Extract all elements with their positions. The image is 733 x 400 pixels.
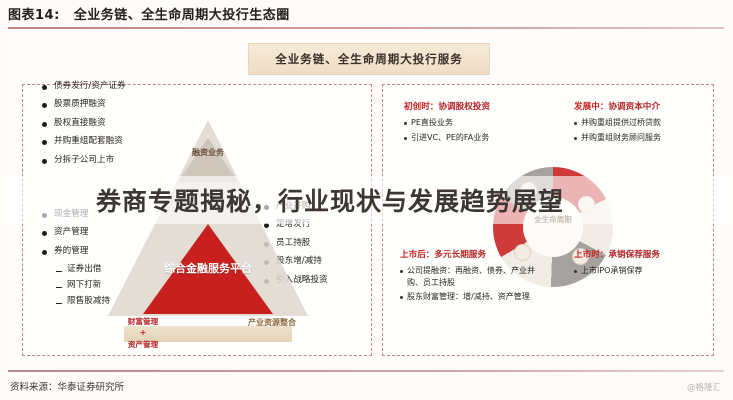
stage-name: 初创时 <box>404 102 430 112</box>
list-item: 现金管理 <box>42 210 110 220</box>
bullet-dot-icon <box>400 296 403 299</box>
stage-item-label: 上市IPO承销保荐 <box>581 265 642 277</box>
stage-theme: 多元长期服务 <box>434 250 486 260</box>
bullet-dot-icon <box>404 122 407 125</box>
cycle-node-icon <box>578 196 595 213</box>
stage-item-label: 并购重组财务顾问服务 <box>581 132 661 144</box>
stage-item: 并购重组财务顾问服务 <box>574 132 712 144</box>
sub-list-item-label: 网下打新 <box>67 281 101 291</box>
asset-management-label: 资产管理 <box>128 340 158 349</box>
stage-item: 引进VC、PE的FA业务 <box>404 132 542 144</box>
diagram-banner: 全业务链、全生命周期大投行服务 <box>248 43 490 75</box>
bottom-divider <box>8 370 724 372</box>
bullet-dot-icon <box>42 103 47 108</box>
list-item: 券的管理 <box>42 247 110 257</box>
figure-header: 图表14:全业务链、全生命周期大投行生态圈 <box>8 4 725 28</box>
stage-item-label: PE直投业务 <box>411 117 453 129</box>
stage-heading: 初创时：协调股权投资 <box>404 100 542 112</box>
pyramid-core-label: 综合金融服务平台 <box>153 262 263 277</box>
stage-theme: 协调资本中介 <box>608 102 660 112</box>
dash-icon <box>56 303 62 304</box>
list-item-label: 现金管理 <box>54 210 88 220</box>
sub-list-item-label: 证券出借 <box>67 265 101 275</box>
stage-heading: 发展中：协调资本中介 <box>574 100 712 112</box>
stage-item-label: 公司提融资：再融资、债券、产业并购、员工持股 <box>407 265 538 288</box>
pyramid-apex-shape <box>178 138 238 182</box>
sub-list-item: 证券出借 <box>56 265 110 275</box>
bullet-dot-icon <box>574 137 577 140</box>
banner-label: 全业务链、全生命周期大投行服务 <box>275 51 463 67</box>
cycle-center-label: 全生命周期 <box>523 214 583 225</box>
list-item-label: 债券发行/资产证券 <box>54 82 126 92</box>
bullet-dot-icon <box>42 122 47 127</box>
sub-list-item-label: 限售股减持 <box>67 297 110 307</box>
list-item-label: 资产管理 <box>54 228 88 238</box>
bullet-dot-icon <box>42 231 47 236</box>
stage-block-growth: 发展中：协调资本中介 并购重组提供过桥贷款 并购重组财务顾问服务 <box>574 100 712 146</box>
source-note: 资料来源：华泰证券研究所 <box>10 379 124 393</box>
figure-page: 图表14:全业务链、全生命周期大投行生态圈 全业务链、全生命周期大投行服务 债券… <box>0 0 733 400</box>
bullet-dot-icon <box>42 159 47 164</box>
list-item-label: 股票质押融资 <box>54 100 106 110</box>
stage-theme: 协调股权投资 <box>438 102 490 112</box>
stage-block-startup: 初创时：协调股权投资 PE直投业务 引进VC、PE的FA业务 <box>404 100 542 146</box>
stage-block-listing: 上市时：承销保荐服务 上市IPO承销保荐 <box>574 248 712 280</box>
stage-item-label: 并购重组提供过桥贷款 <box>581 117 661 129</box>
bullet-dot-icon <box>42 140 47 145</box>
cycle-node-icon <box>520 182 537 199</box>
bullet-dot-icon <box>42 85 47 90</box>
stage-item: 公司提融资：再融资、债券、产业并购、员工持股 <box>400 265 538 288</box>
stage-item: 股东财富管理：增/减持、资产管理 <box>400 291 538 303</box>
list-item-label: 券的管理 <box>54 247 88 257</box>
plus-icon: + <box>140 328 147 337</box>
stage-item: PE直投业务 <box>404 117 542 129</box>
stage-name: 上市后 <box>400 250 426 260</box>
bullet-dot-icon <box>42 250 47 255</box>
list-item: 股票质押融资 <box>42 100 126 110</box>
credit-mark: @格隆汇 <box>687 381 721 393</box>
diagram-canvas: 全业务链、全生命周期大投行服务 债券发行/资产证券 股票质押融资 股权直接融资 … <box>8 32 724 368</box>
list-item-label: 分拆子公司上市 <box>54 156 114 166</box>
stage-item: 上市IPO承销保荐 <box>574 265 712 277</box>
list-item: 债券发行/资产证券 <box>42 82 126 92</box>
stage-theme: 承销保荐服务 <box>608 250 660 260</box>
pyramid-diagram: 融资业务 综合金融服务平台 财富管理 + 资产管理 产业资源整合 <box>108 120 308 350</box>
stage-item: 并购重组提供过桥贷款 <box>574 117 712 129</box>
sub-list-item: 网下打新 <box>56 281 110 291</box>
stage-item-label: 引进VC、PE的FA业务 <box>411 132 489 144</box>
stage-name: 发展中 <box>574 102 600 112</box>
figure-number: 图表14: <box>8 8 60 23</box>
list-item: 资产管理 <box>42 228 110 238</box>
dash-icon <box>56 271 62 272</box>
stage-heading: 上市时：承销保荐服务 <box>574 248 712 260</box>
asset-sub-list: 证券出借 网下打新 限售股减持 <box>56 265 110 307</box>
top-divider <box>8 27 724 29</box>
stage-name: 上市时 <box>574 250 600 260</box>
stage-heading: 上市后：多元长期服务 <box>400 248 538 260</box>
list-item-label: 股权直接融资 <box>54 119 106 129</box>
asset-management-list: 现金管理 资产管理 券的管理 证券出借 网下打新 限售股减持 <box>42 210 110 313</box>
sub-list-item: 限售股减持 <box>56 297 110 307</box>
pyramid-bottom-right-label: 产业资源整合 <box>232 318 312 329</box>
stage-item-label: 股东财富管理：增/减持、资产管理 <box>407 291 530 303</box>
bullet-dot-icon <box>404 137 407 140</box>
pyramid-apex-label: 融资业务 <box>174 148 242 158</box>
page-title: 全业务链、全生命周期大投行生态圈 <box>74 8 290 23</box>
stage-block-post-listing: 上市后：多元长期服务 公司提融资：再融资、债券、产业并购、员工持股 股东财富管理… <box>400 248 538 306</box>
figure-title-line: 图表14:全业务链、全生命周期大投行生态圈 <box>8 4 725 23</box>
bullet-dot-icon <box>574 270 577 273</box>
wealth-management-label: 财富管理 <box>128 317 158 326</box>
pyramid-bottom-left-label: 财富管理 + 资产管理 <box>100 316 186 351</box>
bullet-dot-icon <box>400 270 403 273</box>
dash-icon <box>56 287 62 288</box>
bullet-dot-icon <box>42 213 47 218</box>
bullet-dot-icon <box>574 122 577 125</box>
